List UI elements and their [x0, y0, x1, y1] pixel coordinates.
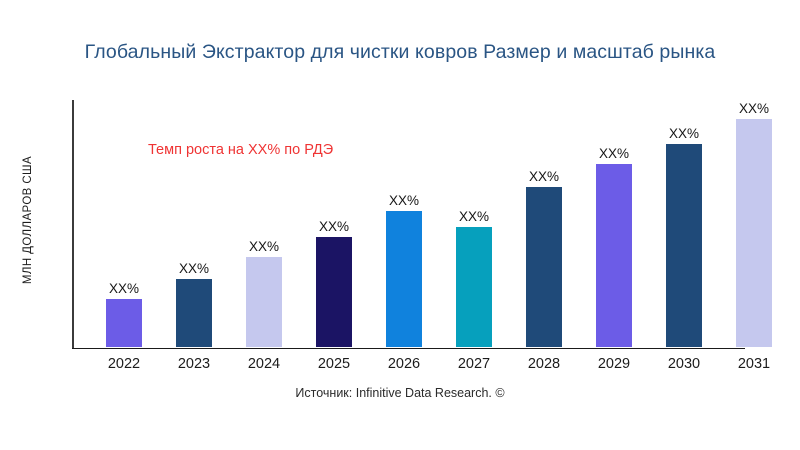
bar-value-label: XX% [443, 209, 505, 224]
bar [596, 164, 632, 347]
bar-value-label: XX% [303, 219, 365, 234]
bar-value-label: XX% [233, 239, 295, 254]
x-tick-label: 2023 [159, 356, 229, 372]
bar-group: XX% [736, 95, 772, 347]
x-tick-label: 2030 [649, 356, 719, 372]
bar-group: XX% [246, 233, 282, 347]
bar-value-label: XX% [93, 281, 155, 296]
bar-group: XX% [176, 255, 212, 347]
bar-group: XX% [386, 187, 422, 347]
bar-group: XX% [316, 213, 352, 347]
y-axis-label: МЛН ДОЛЛАРОВ США [22, 80, 40, 360]
bar-value-label: XX% [373, 193, 435, 208]
x-tick-label: 2031 [719, 356, 789, 372]
bar-value-label: XX% [583, 146, 645, 161]
bar-group: XX% [666, 120, 702, 347]
bar [316, 237, 352, 347]
bar-group: XX% [106, 275, 142, 347]
x-tick-label: 2029 [579, 356, 649, 372]
source-note: Источник: Infinitive Data Research. © [0, 386, 800, 400]
bar [386, 211, 422, 347]
x-tick-label: 2026 [369, 356, 439, 372]
bar-group: XX% [596, 140, 632, 347]
bar [526, 187, 562, 347]
bar-chart: Глобальный Экстрактор для чистки ковров … [0, 0, 800, 450]
x-tick-label: 2022 [89, 356, 159, 372]
bar-group: XX% [456, 203, 492, 347]
x-tick-label: 2024 [229, 356, 299, 372]
bar-value-label: XX% [513, 169, 575, 184]
bar [246, 257, 282, 347]
bar-value-label: XX% [723, 101, 785, 116]
bar [736, 119, 772, 347]
y-axis-line [72, 100, 74, 349]
chart-title: Глобальный Экстрактор для чистки ковров … [0, 41, 800, 64]
growth-rate-annotation: Темп роста на XX% по РДЭ [148, 142, 333, 158]
bar [456, 227, 492, 347]
bar [666, 144, 702, 347]
x-tick-label: 2027 [439, 356, 509, 372]
bar [106, 299, 142, 347]
bar [176, 279, 212, 347]
bar-group: XX% [526, 163, 562, 347]
plot-area: XX%XX%XX%XX%XX%XX%XX%XX%XX%XX% [72, 100, 745, 349]
bar-value-label: XX% [163, 261, 225, 276]
bar-value-label: XX% [653, 126, 715, 141]
x-tick-label: 2025 [299, 356, 369, 372]
x-tick-label: 2028 [509, 356, 579, 372]
x-axis-line [72, 348, 745, 350]
